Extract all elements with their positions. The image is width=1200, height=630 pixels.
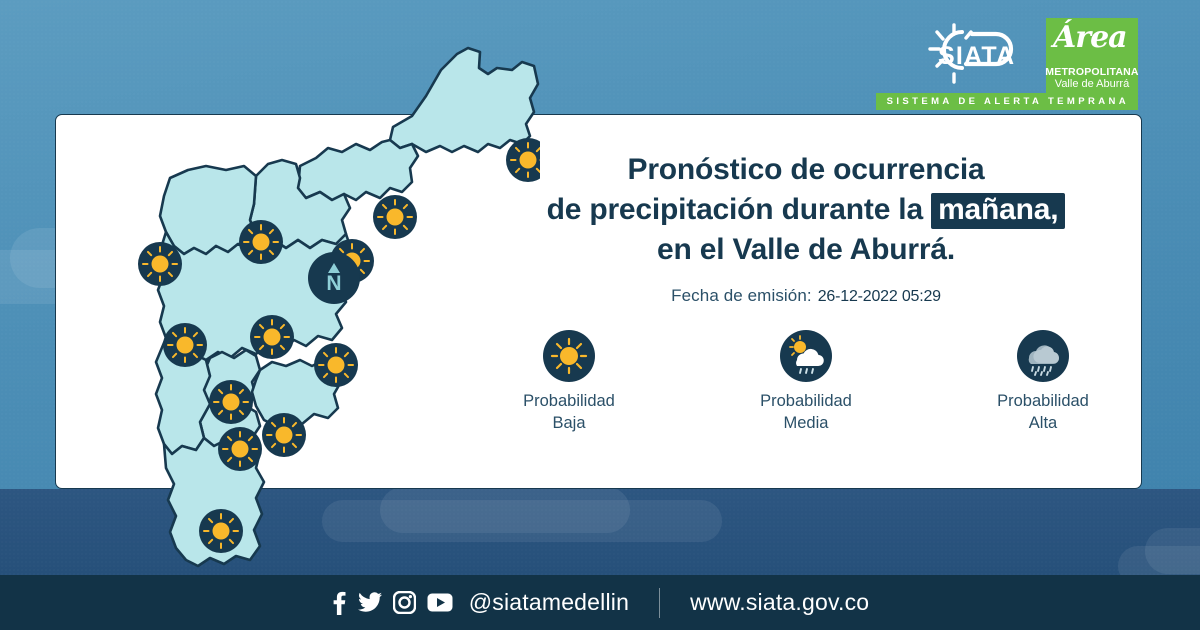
footer-bar: @siatamedellin www.siata.gov.co — [0, 575, 1200, 630]
legend-label-baja: Probabilidad Baja — [507, 390, 632, 435]
legend-item-media: Probabilidad Media — [744, 330, 869, 435]
website-url[interactable]: www.siata.gov.co — [690, 589, 869, 616]
cloud-heavy-rain-icon — [1017, 330, 1069, 382]
legend-label-line2: Media — [744, 412, 869, 434]
page-title: Pronóstico de ocurrencia de precipitació… — [470, 150, 1142, 270]
legend-label-line1: Probabilidad — [507, 390, 632, 412]
area-logo-line2: Valle de Aburrá — [1055, 78, 1129, 91]
legend-label-line2: Alta — [981, 412, 1106, 434]
legend-label-line1: Probabilidad — [744, 390, 869, 412]
forecast-text-block: Pronóstico de ocurrencia de precipitació… — [470, 150, 1142, 306]
emission-value: 26-12-2022 05:29 — [818, 288, 941, 305]
legend-label-line2: Baja — [507, 412, 632, 434]
legend-label-media: Probabilidad Media — [744, 390, 869, 435]
footer-content: @siatamedellin www.siata.gov.co — [331, 588, 870, 618]
legend-item-alta: Probabilidad Alta — [981, 330, 1106, 435]
social-links — [331, 591, 453, 615]
area-script-wordmark: Área — [1053, 20, 1127, 55]
twitter-icon[interactable] — [358, 592, 382, 614]
area-metropolitana-logo: Área METROPOLITANA Valle de Aburrá — [1046, 18, 1138, 94]
probability-legend: Probabilidad Baja — [470, 330, 1142, 435]
footer-divider — [659, 588, 660, 618]
siata-tagline: SISTEMA DE ALERTA TEMPRANA — [876, 93, 1138, 110]
compass-north-icon: N — [308, 252, 360, 304]
facebook-icon[interactable] — [331, 591, 347, 615]
legend-label-line1: Probabilidad — [981, 390, 1106, 412]
siata-wordmark: SIATA — [938, 42, 1015, 71]
title-line-3: en el Valle de Aburrá. — [470, 230, 1142, 270]
title-line-2-text: de precipitación durante la — [547, 193, 923, 226]
title-line-2: de precipitación durante la mañana, — [470, 190, 1142, 230]
sun-icon — [543, 330, 595, 382]
legend-item-baja: Probabilidad Baja — [507, 330, 632, 435]
infographic-canvas: SIATA Área METROPOLITANA Valle de Aburrá… — [0, 0, 1200, 630]
cloud-shape-bottom-center-puff — [380, 487, 630, 533]
title-highlight-mañana: mañana, — [931, 193, 1065, 229]
legend-label-alta: Probabilidad Alta — [981, 390, 1106, 435]
area-logo-line1: METROPOLITANA — [1045, 66, 1138, 78]
emission-date: Fecha de emisión: 26-12-2022 05:29 — [470, 286, 1142, 306]
brand-logos: SIATA Área METROPOLITANA Valle de Aburrá — [918, 18, 1138, 94]
compass-label: N — [326, 272, 341, 295]
cloud-shape-bottom-right-puff — [1145, 528, 1200, 574]
instagram-icon[interactable] — [393, 591, 416, 614]
title-line-1: Pronóstico de ocurrencia — [470, 150, 1142, 190]
sun-cloud-rain-icon — [780, 330, 832, 382]
social-handle[interactable]: @siatamedellin — [469, 589, 629, 616]
youtube-icon[interactable] — [427, 593, 453, 612]
emission-label: Fecha de emisión: — [671, 286, 812, 305]
siata-logo: SIATA — [918, 18, 1036, 90]
